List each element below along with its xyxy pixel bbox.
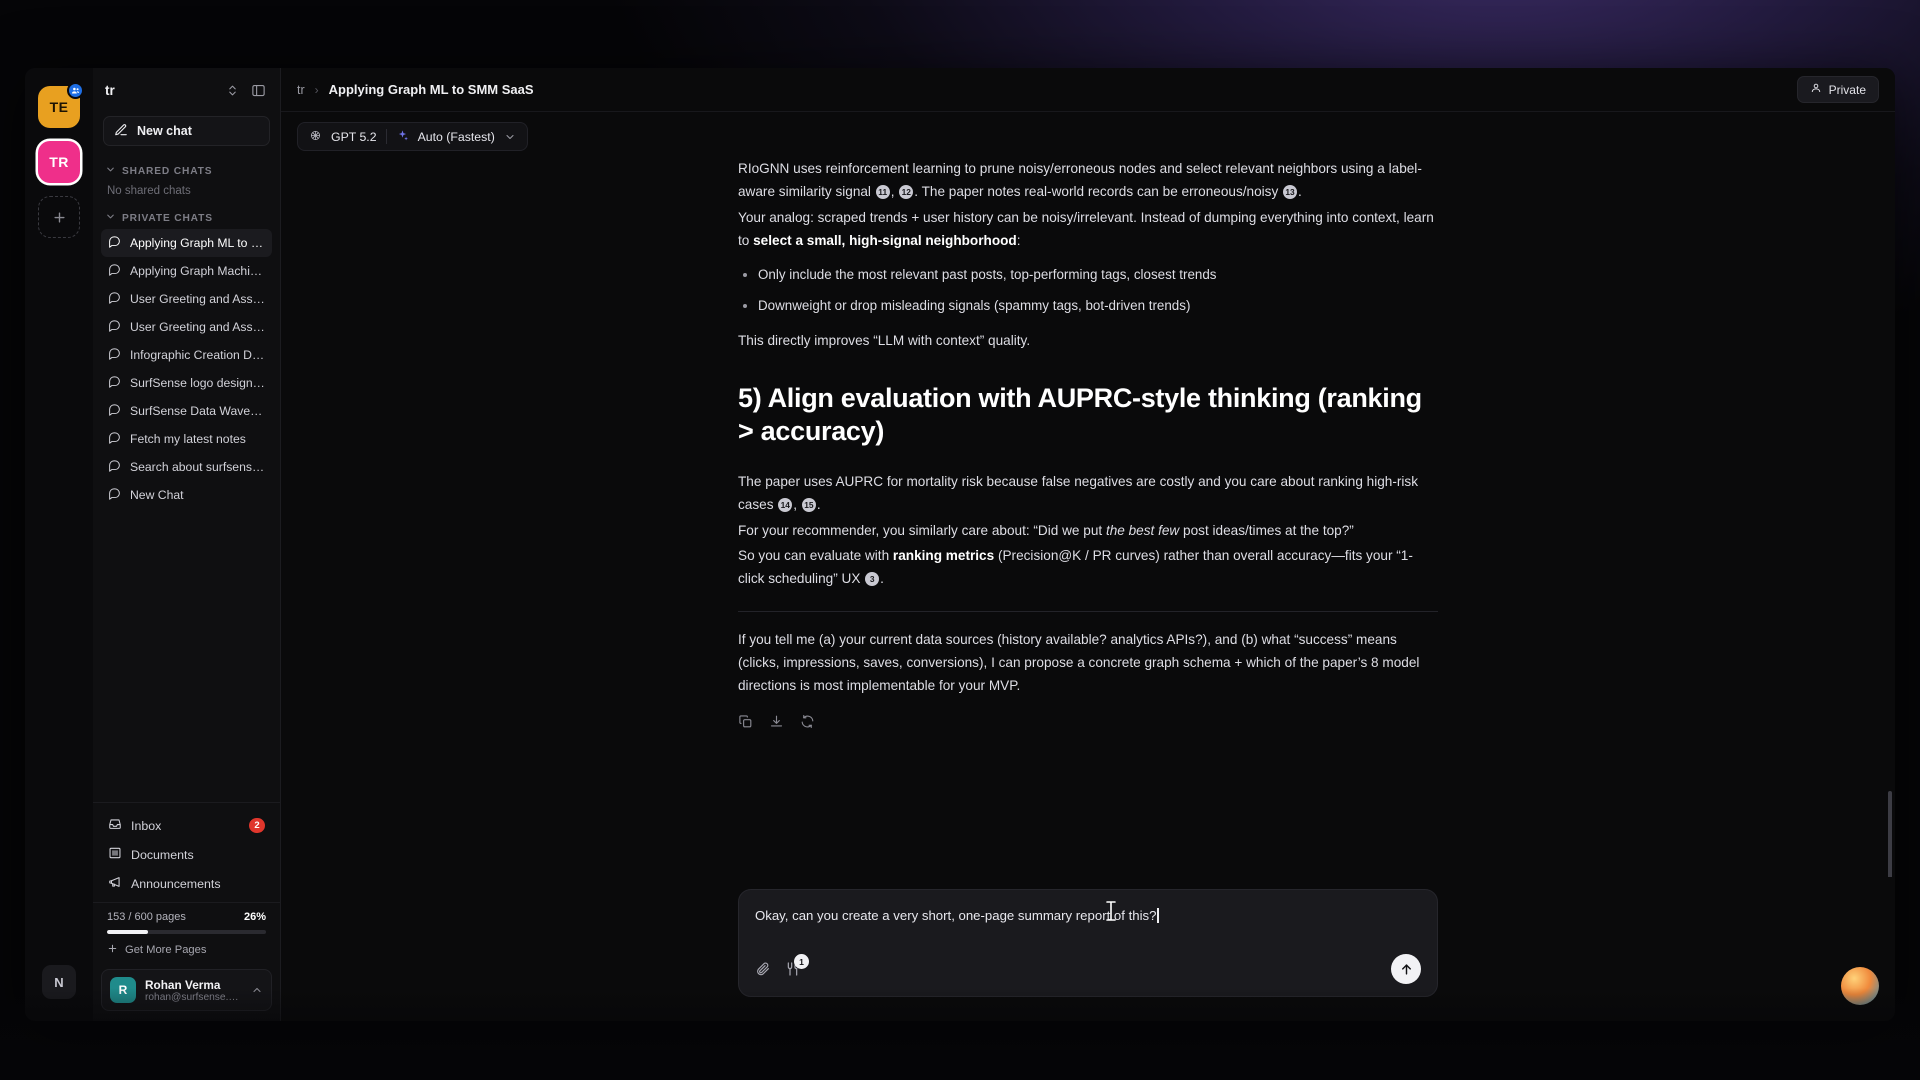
chat-item-label: User Greeting and Assis... — [130, 292, 265, 306]
sparkle-icon — [396, 129, 409, 145]
privacy-label: Private — [1829, 83, 1866, 97]
chat-bubble-icon — [108, 431, 121, 447]
chevron-down-icon — [105, 164, 116, 178]
composer-value: Okay, can you create a very short, one-p… — [755, 908, 1156, 923]
model-bar: GPT 5.2 Auto (Fastest) — [281, 112, 1895, 151]
chat-bubble-icon — [108, 487, 121, 503]
user-meta: Rohan Verma rohan@surfsense.com — [145, 978, 242, 1003]
emphasis-text: ranking metrics — [893, 548, 994, 563]
chat-bubble-icon — [108, 291, 121, 307]
tools-icon[interactable]: 1 — [785, 961, 801, 977]
list-item: Downweight or drop misleading signals (s… — [758, 294, 1438, 317]
breadcrumb-current[interactable]: Applying Graph ML to SMM SaaS — [329, 82, 534, 97]
workspace-avatar-te[interactable]: TE — [38, 86, 80, 128]
sidebar-chat-item[interactable]: Search about surfsense... — [101, 453, 272, 481]
compose-icon — [114, 123, 128, 140]
chat-item-label: Infographic Creation De... — [130, 348, 265, 362]
paragraph-text: . — [1298, 184, 1302, 199]
sidebar-chat-item[interactable]: User Greeting and Assis... — [101, 285, 272, 313]
copy-button[interactable] — [738, 714, 753, 729]
chevron-up-icon[interactable] — [251, 984, 263, 996]
sidebar-chat-item[interactable]: Infographic Creation De... — [101, 341, 272, 369]
sidebar-item-label: Announcements — [131, 877, 221, 891]
mode-name: Auto (Fastest) — [418, 130, 495, 144]
chat-item-label: Fetch my latest notes — [130, 432, 246, 446]
chat-item-label: User Greeting and Assis... — [130, 320, 265, 334]
new-chat-label: New chat — [137, 124, 192, 138]
workspace-initials: TE — [50, 99, 69, 115]
documents-icon — [108, 846, 122, 863]
message-actions — [738, 714, 1438, 729]
sidebar-chat-item[interactable]: User Greeting and Assis... — [101, 313, 272, 341]
chat-bubble-icon — [108, 347, 121, 363]
paragraph-text: , — [793, 497, 801, 512]
paragraph: This directly improves “LLM with context… — [738, 329, 1438, 352]
rail-account-badge[interactable]: N — [42, 965, 76, 999]
user-email: rohan@surfsense.com — [145, 992, 242, 1003]
breadcrumb-root[interactable]: tr — [297, 83, 305, 97]
chat-bubble-icon — [108, 263, 121, 279]
paragraph-text: post ideas/times at the top?” — [1179, 523, 1354, 538]
chevron-down-icon — [105, 211, 116, 225]
composer-area: Okay, can you create a very short, one-p… — [281, 877, 1895, 1021]
people-icon — [67, 82, 84, 99]
text-caret — [1157, 908, 1159, 923]
sidebar-item-announcements[interactable]: Announcements — [101, 869, 272, 898]
collapse-sidebar-icon[interactable] — [248, 80, 268, 100]
assistant-message: RIoGNN uses reinforcement learning to pr… — [738, 157, 1438, 729]
openai-icon — [309, 129, 322, 145]
paragraph-text: . The paper notes real-world records can… — [914, 184, 1282, 199]
paragraph-text: . — [880, 571, 884, 586]
workspace-title[interactable]: tr — [105, 83, 216, 98]
sidebar-chat-item[interactable]: Applying Graph Machin... — [101, 257, 272, 285]
chevron-down-icon[interactable] — [504, 131, 516, 143]
sidebar-chat-item[interactable]: SurfSense Data Wave Vi... — [101, 397, 272, 425]
sidebar-chat-list: SHARED CHATS No shared chats PRIVATE CHA… — [93, 156, 280, 802]
chat-bubble-icon — [108, 375, 121, 391]
citation-badge[interactable]: 13 — [1283, 185, 1297, 199]
conversation-column: RIoGNN uses reinforcement learning to pr… — [738, 151, 1438, 877]
main-panel: tr › Applying Graph ML to SMM SaaS Priva… — [281, 68, 1895, 1021]
emphasis-text: select a small, high-signal neighborhood — [753, 233, 1017, 248]
usage-progress-fill — [107, 930, 148, 934]
get-more-pages-button[interactable]: Get More Pages — [107, 943, 266, 957]
tools-count-badge: 1 — [794, 954, 809, 969]
sidebar-nav: Inbox 2 Documents Announcements — [93, 802, 280, 902]
list-item: Only include the most relevant past post… — [758, 263, 1438, 286]
divider — [738, 611, 1438, 612]
private-chats-group-header[interactable]: PRIVATE CHATS — [101, 203, 272, 229]
paragraph-text: For your recommender, you similarly care… — [738, 523, 1106, 538]
regenerate-button[interactable] — [800, 714, 815, 729]
conversation-scroll[interactable]: RIoGNN uses reinforcement learning to pr… — [281, 151, 1895, 877]
paragraph-text: So you can evaluate with — [738, 548, 893, 563]
chevron-updown-icon[interactable] — [222, 80, 242, 100]
citation-badge[interactable]: 11 — [876, 185, 890, 199]
paragraph: The paper uses AUPRC for mortality risk … — [738, 470, 1438, 517]
chat-item-label: SurfSense logo design ... — [130, 376, 265, 390]
shared-chats-group-header[interactable]: SHARED CHATS — [101, 156, 272, 182]
user-profile[interactable]: R Rohan Verma rohan@surfsense.com — [101, 969, 272, 1011]
chat-bubble-icon — [108, 235, 121, 251]
send-button[interactable] — [1391, 954, 1421, 984]
paragraph-text: : — [1017, 233, 1021, 248]
user-name: Rohan Verma — [145, 978, 242, 992]
citation-badge[interactable]: 14 — [778, 498, 792, 512]
sidebar-chat-item[interactable]: Fetch my latest notes — [101, 425, 272, 453]
app-window: TE TR N tr New chat — [25, 68, 1895, 1021]
person-icon — [1810, 82, 1822, 97]
inbox-icon — [108, 817, 122, 834]
usage-row: 153 / 600 pages 26% — [107, 911, 266, 923]
megaphone-icon — [108, 875, 122, 892]
paragraph: So you can evaluate with ranking metrics… — [738, 544, 1438, 591]
desktop-background: TE TR N tr New chat — [0, 0, 1920, 1080]
inbox-unread-badge: 2 — [249, 818, 265, 833]
private-chats-label: PRIVATE CHATS — [122, 213, 213, 224]
assistant-fab[interactable] — [1841, 967, 1879, 1005]
message-composer[interactable]: Okay, can you create a very short, one-p… — [738, 889, 1438, 997]
bullet-list: Only include the most relevant past post… — [758, 263, 1438, 317]
divider — [386, 129, 387, 144]
citation-badge[interactable]: 3 — [865, 572, 879, 586]
section-heading: 5) Align evaluation with AUPRC-style thi… — [738, 382, 1438, 448]
chat-item-label: SurfSense Data Wave Vi... — [130, 404, 265, 418]
sidebar-chat-item[interactable]: SurfSense logo design ... — [101, 369, 272, 397]
paragraph: For your recommender, you similarly care… — [738, 519, 1438, 542]
composer-input[interactable]: Okay, can you create a very short, one-p… — [755, 906, 1159, 926]
shared-chats-empty: No shared chats — [101, 182, 272, 203]
sidebar-chat-item[interactable]: Applying Graph ML to S... — [101, 229, 272, 257]
chat-bubble-icon — [108, 403, 121, 419]
topbar-right: Private — [1797, 76, 1879, 103]
download-button[interactable] — [769, 714, 784, 729]
model-name: GPT 5.2 — [331, 130, 377, 144]
avatar: R — [110, 977, 136, 1003]
chat-bubble-icon — [108, 459, 121, 475]
paragraph: If you tell me (a) your current data sou… — [738, 628, 1438, 698]
paperclip-icon[interactable] — [755, 961, 771, 977]
model-selector[interactable]: GPT 5.2 Auto (Fastest) — [297, 122, 528, 151]
composer-toolbar: 1 — [755, 954, 1421, 984]
chat-bubble-icon — [108, 319, 121, 335]
sidebar-item-label: Documents — [131, 848, 194, 862]
vertical-scrollbar[interactable] — [1888, 791, 1892, 877]
breadcrumb-separator: › — [315, 83, 319, 97]
chat-item-label: Applying Graph ML to S... — [130, 236, 265, 250]
chat-item-label: Search about surfsense... — [130, 460, 265, 474]
shared-chats-label: SHARED CHATS — [122, 166, 212, 177]
chat-item-label: New Chat — [130, 488, 184, 502]
topbar: tr › Applying Graph ML to SMM SaaS Priva… — [281, 68, 1895, 112]
sidebar-header: tr — [93, 68, 280, 112]
sidebar-chat-item[interactable]: New Chat — [101, 481, 272, 509]
workspace-avatar-tr[interactable]: TR — [38, 141, 80, 183]
paragraph: Your analog: scraped trends + user histo… — [738, 206, 1438, 253]
citation-badge[interactable]: 15 — [802, 498, 816, 512]
add-workspace-button[interactable] — [38, 196, 80, 238]
sidebar: tr New chat SHARED CHATS No shared chats — [93, 68, 281, 1021]
paragraph-text: . — [817, 497, 821, 512]
new-chat-button[interactable]: New chat — [103, 116, 270, 146]
privacy-toggle[interactable]: Private — [1797, 76, 1879, 103]
sidebar-item-inbox[interactable]: Inbox 2 — [101, 811, 272, 840]
usage-progress-bar — [107, 930, 266, 934]
paragraph-text: , — [891, 184, 899, 199]
chat-item-label: Applying Graph Machin... — [130, 264, 265, 278]
usage-panel: 153 / 600 pages 26% Get More Pages — [93, 902, 280, 963]
paragraph-text: The paper uses AUPRC for mortality risk … — [738, 474, 1418, 512]
workspace-rail: TE TR N — [25, 68, 93, 1021]
italic-text: the best few — [1106, 523, 1179, 538]
sidebar-item-documents[interactable]: Documents — [101, 840, 272, 869]
sidebar-item-label: Inbox — [131, 819, 161, 833]
paragraph: RIoGNN uses reinforcement learning to pr… — [738, 157, 1438, 204]
usage-percent: 26% — [244, 911, 266, 923]
plus-icon — [107, 943, 118, 957]
workspace-initials: TR — [49, 154, 68, 170]
get-more-pages-label: Get More Pages — [125, 944, 206, 956]
citation-badge[interactable]: 12 — [899, 185, 913, 199]
usage-text: 153 / 600 pages — [107, 911, 186, 923]
